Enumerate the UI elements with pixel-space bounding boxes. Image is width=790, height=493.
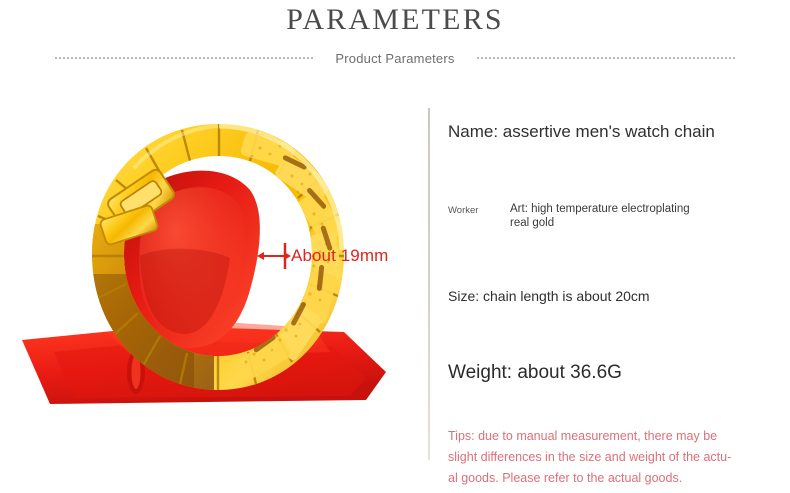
panel-divider (428, 108, 430, 460)
spec-worker-label: Worker (448, 202, 510, 217)
subtitle-label: Product Parameters (335, 51, 454, 66)
spec-art-value: Art: high temperature electroplating rea… (510, 202, 700, 230)
product-image (14, 104, 414, 434)
spec-tips: Tips: due to manual measurement, there m… (448, 426, 740, 489)
tips-line: slight differences in the size and weigh… (448, 447, 740, 468)
product-parameters-page: PARAMETERS Product Parameters (0, 0, 790, 493)
spec-art-row: Worker Art: high temperature electroplat… (448, 202, 700, 230)
tips-line: al goods. Please refer to the actual goo… (448, 468, 740, 489)
spec-size: Size: chain length is about 20cm (448, 288, 650, 304)
page-title: PARAMETERS (0, 3, 790, 37)
tips-line: Tips: due to manual measurement, there m… (448, 426, 740, 447)
spec-name: Name: assertive men's watch chain (448, 122, 715, 142)
dotted-rule-right (477, 57, 735, 59)
subtitle-row: Product Parameters (0, 48, 790, 68)
dotted-rule-left (55, 57, 313, 59)
spec-weight: Weight: about 36.6G (448, 362, 622, 384)
